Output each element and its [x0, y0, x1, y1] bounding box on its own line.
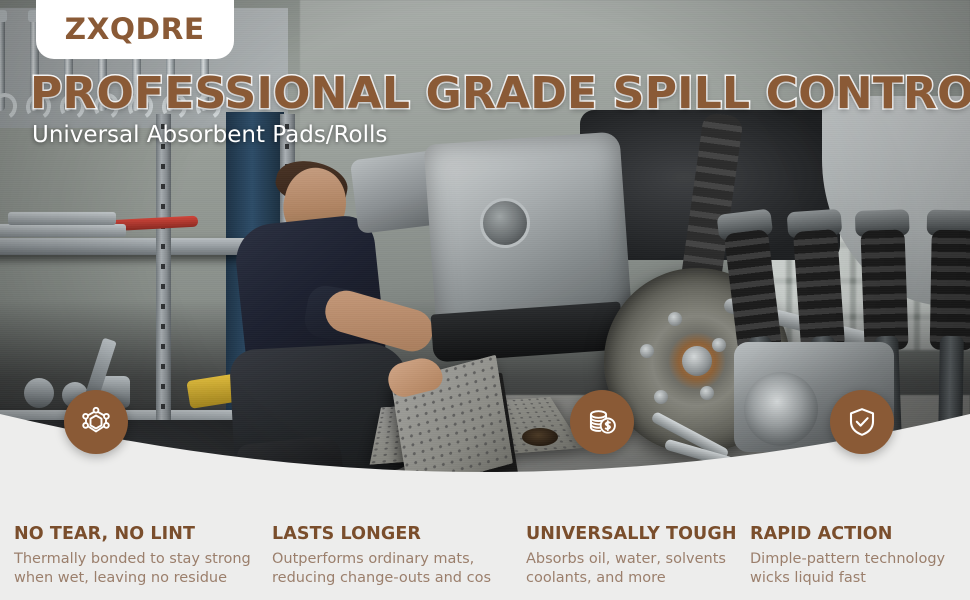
molecule-bond-icon [64, 390, 128, 454]
lug-nut [668, 312, 682, 326]
feature-item-lasts-longer: LASTS LONGER Outperforms ordinary mats, … [262, 432, 512, 600]
feature-description-line: Outperforms ordinary mats, [272, 550, 515, 569]
brand-logo-text: ZXQDRE [65, 15, 205, 44]
page-subtitle: Universal Absorbent Pads/Rolls [32, 122, 387, 150]
feature-description-line: Dimple-pattern technology [750, 550, 945, 569]
feature-description-line: wicks liquid fast [750, 569, 945, 588]
feature-item-no-tear-no-lint: NO TEAR, NO LINT Thermally bonded to sta… [0, 432, 262, 600]
shock-bellows [930, 230, 970, 351]
feature-item-universally-tough: UNIVERSALLY TOUGH Absorbs oil, water, so… [512, 432, 740, 600]
transmission-port [480, 198, 530, 248]
tool-on-shelf [8, 212, 116, 225]
tool-on-shelf [0, 224, 126, 237]
feature-description: Dimple-pattern technology wicks liquid f… [750, 550, 945, 588]
brand-logo-badge: ZXQDRE [36, 0, 234, 59]
product-banner: ZXQDRE PROFESSIONAL GRADE SPILL CONTROL … [0, 0, 970, 600]
feature-description: Outperforms ordinary mats, reducing chan… [272, 550, 515, 588]
feature-description-line: Absorbs oil, water, solvents [526, 550, 726, 569]
feature-description-line: when wet, leaving no residue [14, 569, 251, 588]
feature-list: NO TEAR, NO LINT Thermally bonded to sta… [0, 432, 970, 600]
lug-nut [640, 344, 654, 358]
feature-panel: NO TEAR, NO LINT Thermally bonded to sta… [0, 432, 970, 600]
shock-bellows [793, 229, 845, 352]
page-title: PROFESSIONAL GRADE SPILL CONTROL [30, 72, 970, 116]
feature-title: NO TEAR, NO LINT [14, 524, 195, 544]
feature-title: RAPID ACTION [750, 524, 893, 544]
feature-description: Absorbs oil, water, solvents coolants, a… [526, 550, 726, 588]
feature-description-line: Thermally bonded to stay strong [14, 550, 251, 569]
feature-item-rapid-action: RAPID ACTION Dimple-pattern technology w… [740, 432, 970, 600]
feature-description-line: reducing change-outs and cos [272, 569, 515, 588]
shock-bellows [860, 229, 908, 350]
feature-title: UNIVERSALLY TOUGH [526, 524, 737, 544]
lug-nut [712, 338, 726, 352]
feature-description: Thermally bonded to stay strong when wet… [14, 550, 251, 588]
wrench-icon [0, 15, 5, 111]
feature-description-line: coolants, and more [526, 569, 726, 588]
feature-title: LASTS LONGER [272, 524, 421, 544]
